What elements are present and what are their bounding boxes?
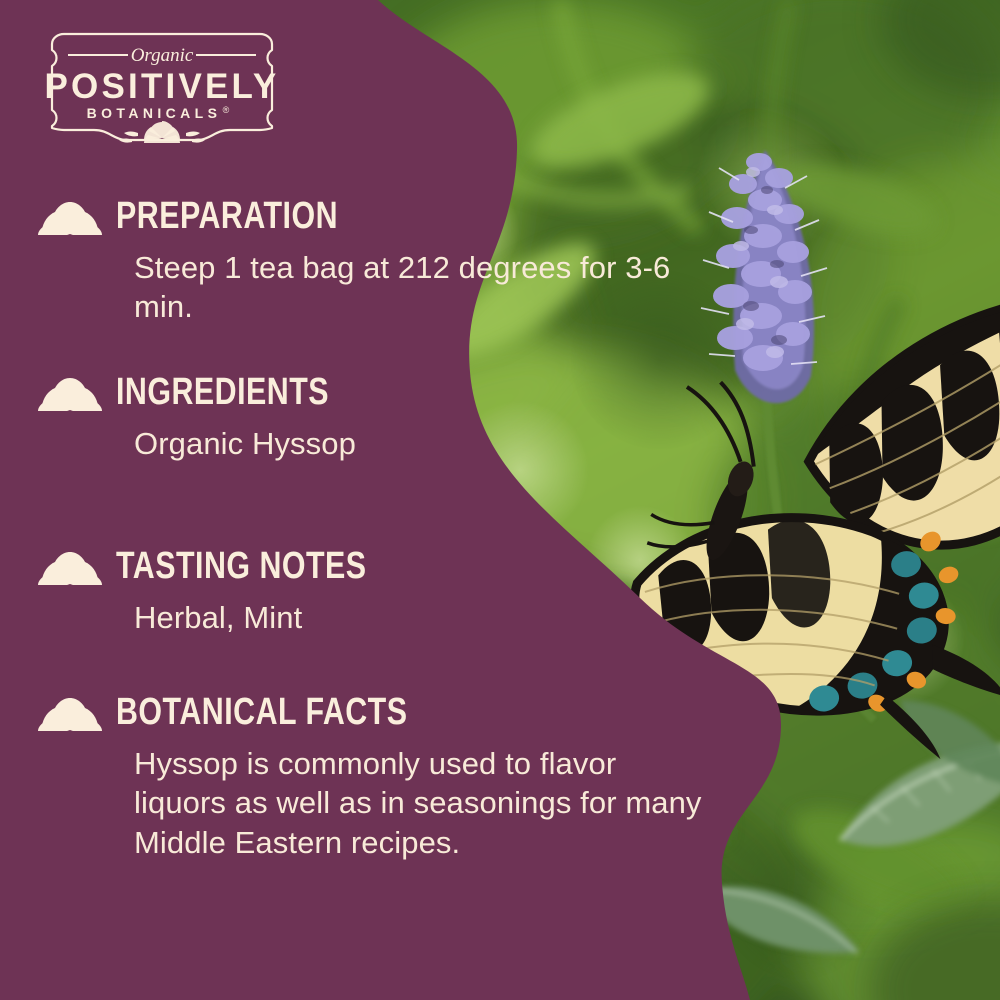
logo-eyebrow: Organic xyxy=(131,45,194,66)
section-tasting-notes: TASTING NOTES Herbal, Mint xyxy=(38,546,429,637)
section-title: PREPARATION xyxy=(116,197,338,235)
section-heading-row: INGREDIENTS xyxy=(38,372,382,412)
section-body: Steep 1 tea bag at 212 degrees for 3-6 m… xyxy=(134,248,714,327)
brand-logo: Organic POSITIVELY BOTANICALS ® xyxy=(34,30,290,148)
section-body: Organic Hyssop xyxy=(134,424,382,463)
section-title: BOTANICAL FACTS xyxy=(116,693,407,731)
section-body: Herbal, Mint xyxy=(134,598,429,637)
section-heading-row: TASTING NOTES xyxy=(38,546,429,586)
product-info-card: Organic POSITIVELY BOTANICALS ® xyxy=(0,0,1000,1000)
fan-ornament-icon xyxy=(38,196,102,236)
section-title: INGREDIENTS xyxy=(116,373,329,411)
section-title: TASTING NOTES xyxy=(116,547,367,585)
section-heading-row: PREPARATION xyxy=(38,196,714,236)
section-ingredients: INGREDIENTS Organic Hyssop xyxy=(38,372,382,463)
section-preparation: PREPARATION Steep 1 tea bag at 212 degre… xyxy=(38,196,714,327)
fan-ornament-icon xyxy=(38,372,102,412)
section-botanical-facts: BOTANICAL FACTS Hyssop is commonly used … xyxy=(38,692,714,862)
section-body: Hyssop is commonly used to flavor liquor… xyxy=(134,744,714,862)
logo-registered-mark: ® xyxy=(223,105,230,115)
logo-sub: BOTANICALS xyxy=(87,105,222,121)
fan-ornament-icon xyxy=(38,692,102,732)
fan-ornament-icon xyxy=(38,546,102,586)
logo-name: POSITIVELY xyxy=(45,67,280,106)
section-heading-row: BOTANICAL FACTS xyxy=(38,692,714,732)
